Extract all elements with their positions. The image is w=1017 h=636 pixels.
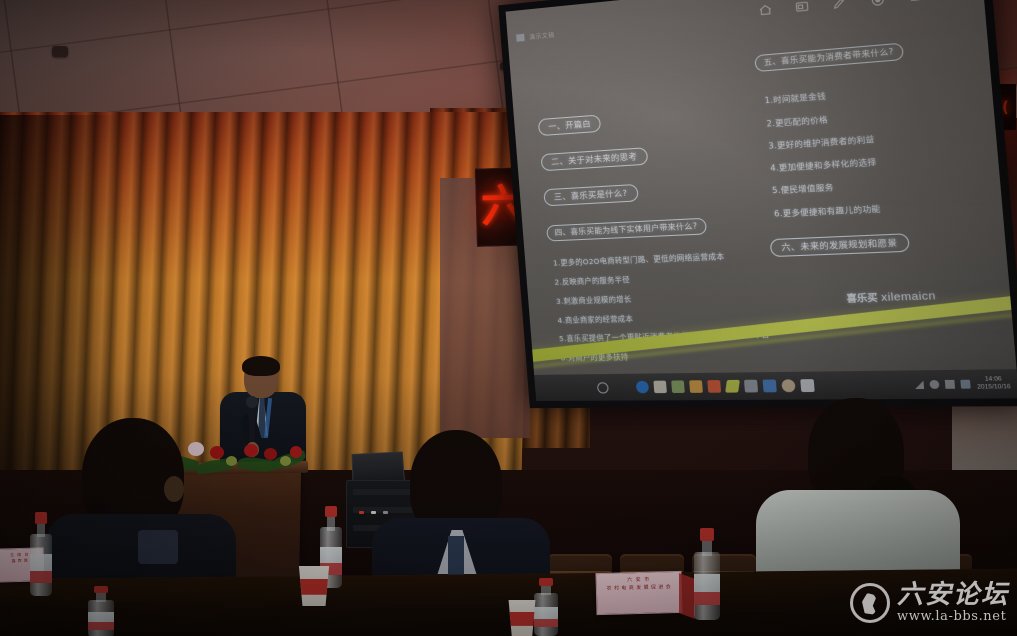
folder-icon[interactable] xyxy=(689,380,703,393)
battery-icon[interactable] xyxy=(961,380,971,389)
slide-bullet: 2.反映商户的服务半径 xyxy=(554,270,760,287)
qq-icon[interactable] xyxy=(707,380,721,393)
start-button-icon[interactable] xyxy=(597,382,609,393)
network-icon[interactable] xyxy=(915,380,925,389)
bottle-label-band xyxy=(694,592,720,605)
projected-window-titlebar[interactable]: 演示文稿 xyxy=(515,13,696,44)
paper-cup-band xyxy=(296,579,332,595)
flower-red xyxy=(290,446,302,458)
audience-tie xyxy=(448,536,464,578)
bottle-neck xyxy=(96,592,106,601)
paper-cup-band xyxy=(506,612,538,626)
slide-bullet: 1.更多的O2O电商转型门路、更低的网络运营成本 xyxy=(553,251,758,269)
ppt-icon[interactable] xyxy=(800,379,815,392)
bottle-cap xyxy=(94,586,109,593)
taskbar-clock[interactable]: 14:06 2015/10/16 xyxy=(976,376,1011,392)
flower-red xyxy=(244,444,258,457)
bottle-label-band xyxy=(534,619,558,627)
player-icon[interactable] xyxy=(744,380,758,393)
bottle-label-band xyxy=(88,622,114,629)
slide-bullet: 3.刺激商业规模的增长 xyxy=(556,290,762,306)
projected-desktop[interactable]: 演示文稿 xyxy=(506,0,1017,401)
slide-heading: 五、喜乐买能为消费者带来什么? xyxy=(754,43,904,73)
slide-bullet: 6.更多便捷和有趣儿的功能 xyxy=(774,198,995,220)
slide-bullet: 5.便民增值服务 xyxy=(772,174,993,197)
slide-bullet: 2.更匹配的价格 xyxy=(766,103,987,129)
slide-heading: 四、喜乐买能为线下实体用户带来什么? xyxy=(546,218,706,242)
slide-heading: 六、未来的发展规划和愿景 xyxy=(770,233,910,257)
nameplate-center-side xyxy=(679,573,695,619)
bottle-neck xyxy=(702,539,712,556)
bottle-label-band xyxy=(30,571,52,583)
explorer-icon[interactable] xyxy=(671,380,685,393)
slide-bullet: 4.更加便捷和多样化的选择 xyxy=(770,150,991,174)
bottle-neck xyxy=(541,585,551,595)
conference-room-photo: 六 (( 演示文稿 xyxy=(0,0,1017,636)
audience-collar xyxy=(138,530,178,564)
screenshot-icon[interactable] xyxy=(793,0,811,15)
slide-heading: 二、关于对未来的思考 xyxy=(540,147,648,171)
slide-bullet-list: 1.时间就是金钱 2.更匹配的价格 3.更好的维护消费者的利益 4.更加便捷和多… xyxy=(758,79,995,219)
presenter-toolbar[interactable] xyxy=(750,0,933,24)
water-bottle xyxy=(30,512,52,596)
clock-time: 14:06 xyxy=(985,376,1002,383)
front-table xyxy=(0,569,1017,636)
copy-icon[interactable] xyxy=(906,0,925,5)
slide-heading: 三、喜乐买是什么? xyxy=(543,184,638,207)
window-title: 演示文稿 xyxy=(529,29,555,40)
slide-right-column: 五、喜乐买能为消费者带来什么? 1.时间就是金钱 2.更匹配的价格 3.更好的维… xyxy=(754,33,1000,274)
slide-heading: 一、开篇白 xyxy=(538,114,602,136)
wps-icon[interactable] xyxy=(763,379,777,392)
bottle-cap xyxy=(700,528,715,541)
slide-bullet: 1.时间就是金钱 xyxy=(764,79,985,107)
clock-date: 2015/10/16 xyxy=(977,384,1011,391)
flower-red xyxy=(264,448,277,460)
slide-bullet: 3.更好的维护消费者的利益 xyxy=(768,127,989,152)
slide-brand-logo: 喜乐买 xilemaicn xyxy=(846,288,936,305)
browser-icon[interactable] xyxy=(781,379,795,392)
store-icon[interactable] xyxy=(653,381,667,394)
bottle-cap xyxy=(35,512,47,524)
water-bottle xyxy=(694,528,720,620)
input-icon[interactable] xyxy=(945,380,955,389)
system-tray[interactable]: 14:06 2015/10/16 xyxy=(914,376,1011,392)
logo-chinese-text: 喜乐买 xyxy=(846,290,878,305)
presenter-hair xyxy=(242,356,280,376)
audience-ear xyxy=(164,476,184,502)
window-app-icon xyxy=(515,32,525,42)
bottle-cap xyxy=(539,578,552,586)
microphone-head-icon xyxy=(246,396,258,408)
projection-screen[interactable]: 演示文稿 xyxy=(498,0,1017,408)
note-icon[interactable] xyxy=(725,380,740,393)
nameplate-line2: 农 村 电 商 发 展 促 进 会 xyxy=(600,583,678,593)
bottle-cap xyxy=(325,506,337,517)
logo-latin-text: xilemaicn xyxy=(881,289,937,304)
edge-icon[interactable] xyxy=(636,381,649,393)
water-bottle xyxy=(88,586,114,636)
bottle-neck xyxy=(327,516,336,531)
home-icon[interactable] xyxy=(757,1,775,18)
slide-bullet: 4.商业商家的经营成本 xyxy=(557,310,763,325)
bottle-neck xyxy=(37,522,46,537)
nameplate-center: 六 安 市 农 村 电 商 发 展 促 进 会 xyxy=(595,571,682,615)
power-led-icon xyxy=(359,511,364,514)
water-bottle xyxy=(534,578,558,636)
windows-taskbar[interactable]: 14:06 2015/10/16 xyxy=(534,369,1017,401)
flower-green xyxy=(280,456,291,466)
volume-icon[interactable] xyxy=(930,380,940,389)
pen-icon[interactable] xyxy=(830,0,848,12)
record-icon[interactable] xyxy=(868,0,887,8)
